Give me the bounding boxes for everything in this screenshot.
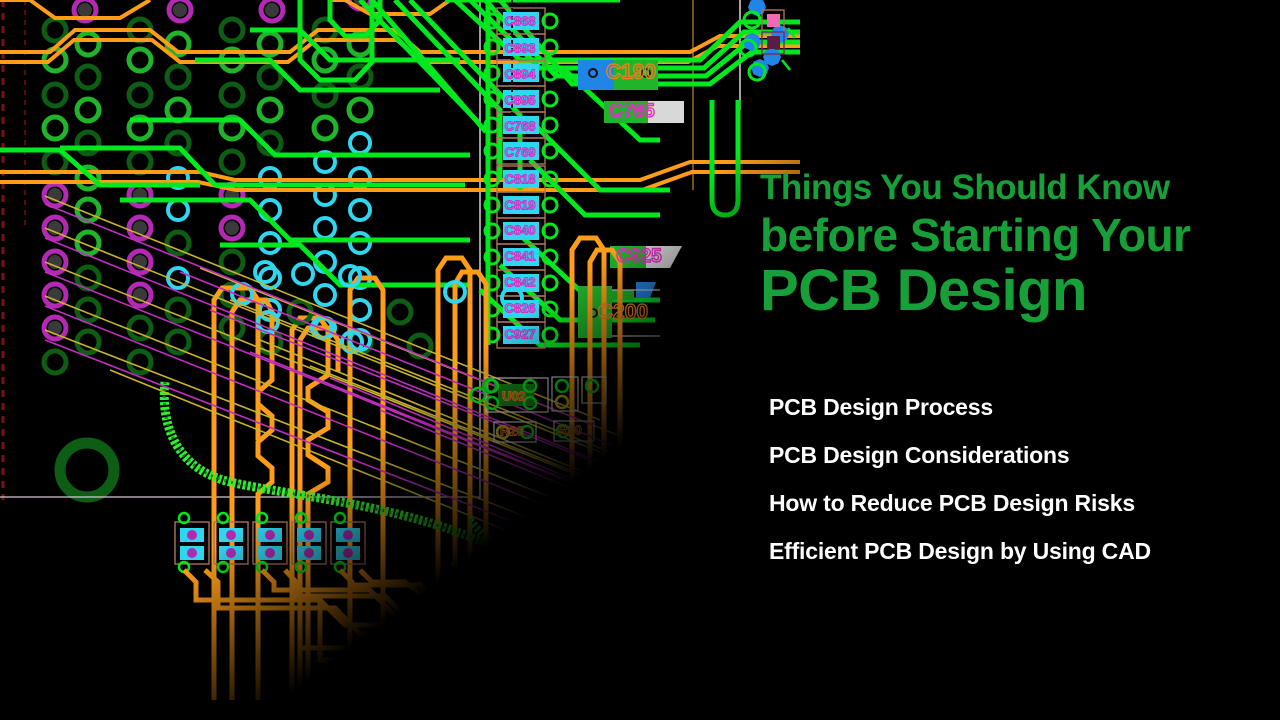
- designator-label: U02: [502, 388, 526, 403]
- designator-label: C895: [504, 92, 535, 107]
- designator-label: C819: [504, 197, 535, 212]
- title-text-block: Things You Should Know before Starting Y…: [760, 170, 1280, 320]
- designator-label: C768: [504, 118, 535, 133]
- title-line-1: Things You Should Know: [760, 170, 1280, 205]
- list-item[interactable]: PCB Design Process: [769, 396, 1280, 419]
- page-title: Things You Should Know before Starting Y…: [760, 170, 1280, 320]
- designator-label: C200: [598, 301, 648, 324]
- designator-label: C925: [616, 246, 662, 267]
- title-line-2: before Starting Your: [760, 212, 1280, 258]
- designator-label: C893: [504, 40, 535, 55]
- designator-label: C190: [606, 61, 656, 84]
- list-item[interactable]: Efficient PCB Design by Using CAD: [769, 540, 1280, 563]
- title-line-3: PCB Design: [760, 262, 1280, 320]
- designator-label: C894: [504, 66, 536, 81]
- designator-label: C927: [504, 326, 535, 341]
- pcb-layout-artwork: C868C893C894C895C768C769C818C819C840C841…: [0, 0, 800, 700]
- designator-label: R20: [500, 423, 524, 438]
- list-item[interactable]: How to Reduce PCB Design Risks: [769, 492, 1280, 515]
- designator-label: C868: [504, 13, 535, 28]
- designator-label: C769: [504, 144, 535, 159]
- designator-label: C826: [504, 300, 535, 315]
- designator-label: C765: [609, 101, 655, 122]
- slide-root: C868C893C894C895C768C769C818C819C840C841…: [0, 0, 1280, 720]
- topic-list: PCB Design Process PCB Design Considerat…: [769, 396, 1280, 588]
- designator-label: C840: [504, 222, 535, 237]
- designator-label: C842: [504, 274, 535, 289]
- designator-label: R20: [558, 422, 582, 437]
- list-item[interactable]: PCB Design Considerations: [769, 444, 1280, 467]
- designator-label: C818: [504, 171, 535, 186]
- designator-label: C841: [504, 248, 535, 263]
